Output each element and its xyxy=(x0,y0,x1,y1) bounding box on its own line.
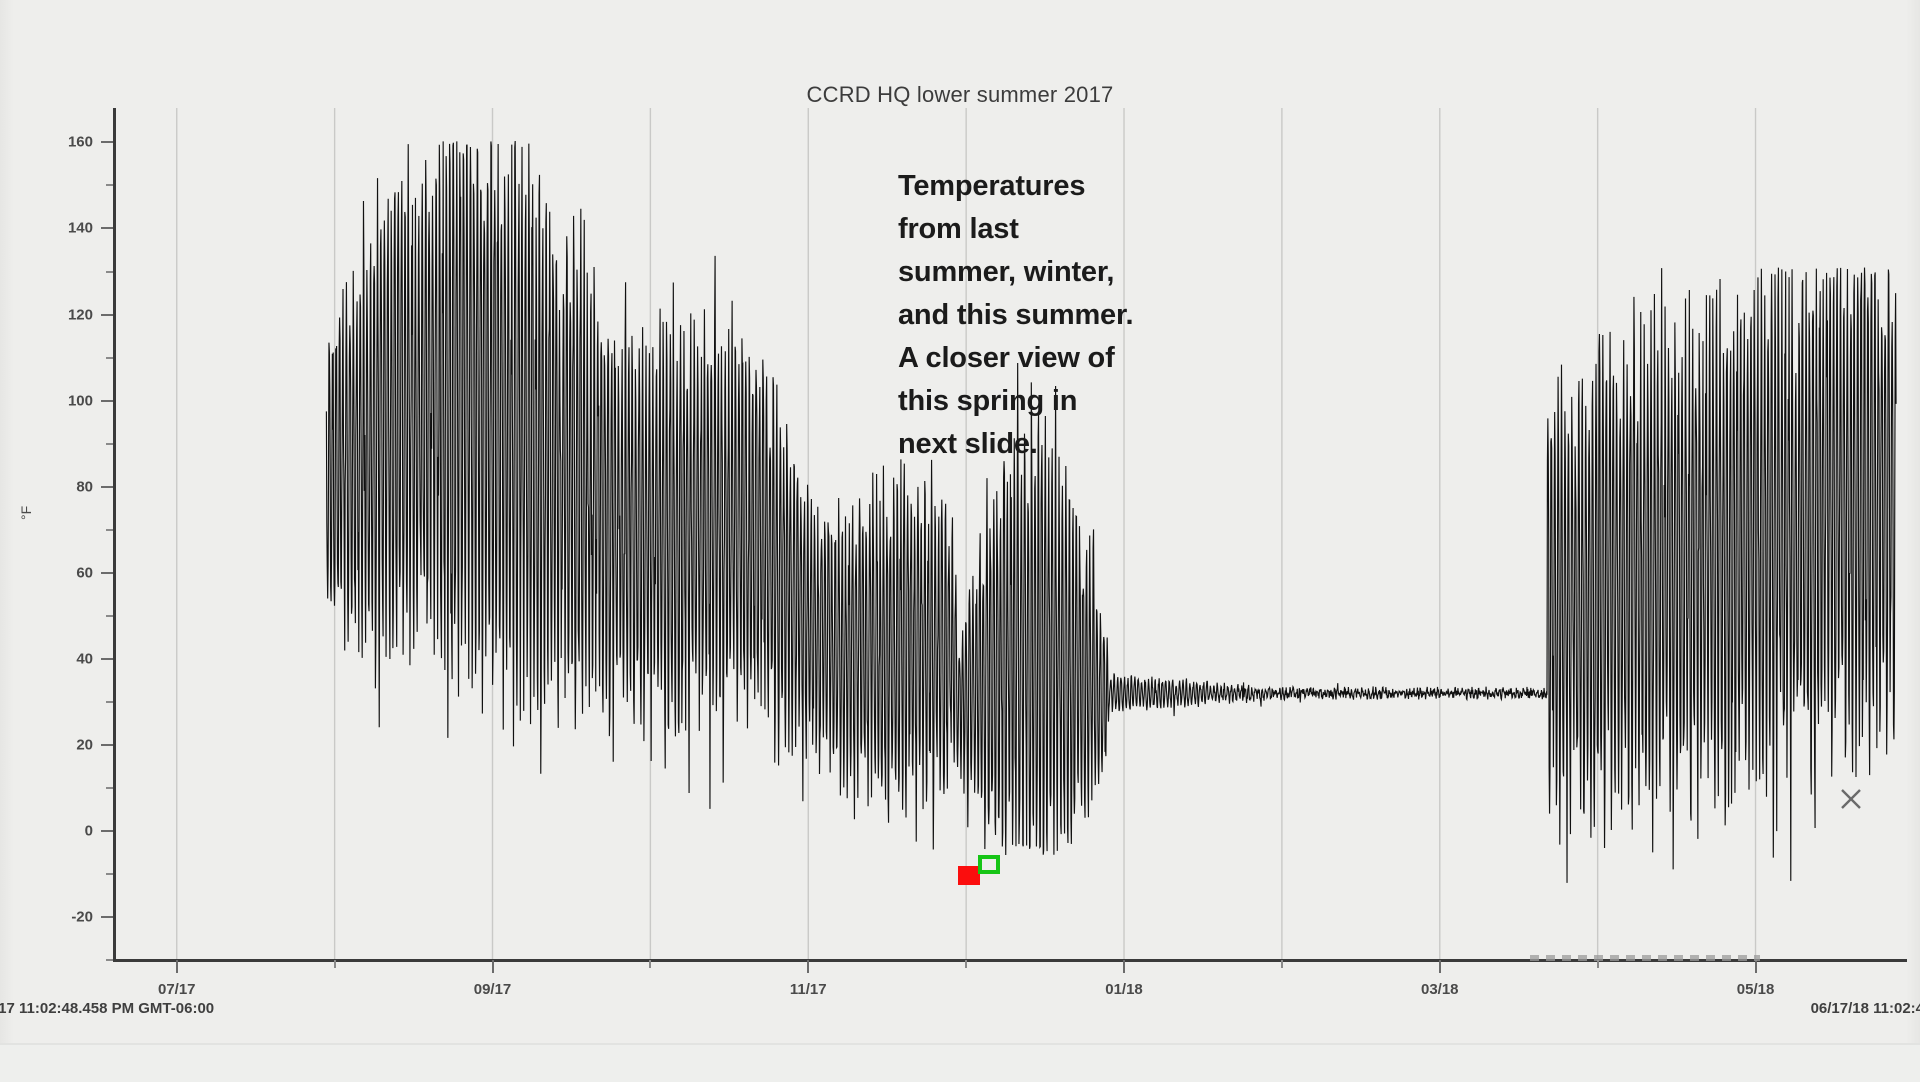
x-tick-label: 11/17 xyxy=(790,981,827,998)
x-tick-label: 05/18 xyxy=(1737,981,1775,998)
x-tick-label: 03/18 xyxy=(1421,981,1459,998)
y-axis-title: °F xyxy=(18,506,34,520)
bottom-strip xyxy=(0,1043,1920,1082)
close-icon[interactable] xyxy=(1837,785,1865,813)
timestamp-left: /17 11:02:48.458 PM GMT-06:00 xyxy=(0,1000,214,1017)
x-tick-major xyxy=(176,960,178,973)
y-tick-label: 60 xyxy=(76,564,93,581)
x-axis: 07/1709/1711/1701/1803/1805/18 xyxy=(0,959,1920,1019)
y-tick-label: 0 xyxy=(85,822,93,839)
y-tick-label: 100 xyxy=(68,392,93,409)
annotation-line: from last xyxy=(898,208,1258,251)
x-tick-major xyxy=(1439,960,1441,973)
y-axis: 160140120100806040200-20 xyxy=(0,108,115,960)
y-tick-label: 160 xyxy=(68,134,93,151)
right-edge-band xyxy=(1906,0,1920,1080)
y-tick-label: -20 xyxy=(71,908,93,925)
annotation-line: summer, winter, xyxy=(898,251,1258,294)
x-tick-minor xyxy=(649,960,651,968)
y-tick-label: 40 xyxy=(76,650,93,667)
red-square-marker[interactable] xyxy=(958,866,980,885)
y-tick-label: 120 xyxy=(68,306,93,323)
x-tick-major xyxy=(492,960,494,973)
annotation-line: this spring in xyxy=(898,380,1258,423)
chart-window: CCRD HQ lower summer 2017 16014012010080… xyxy=(0,0,1920,1080)
x-tick-label: 07/17 xyxy=(158,981,196,998)
y-tick-label: 80 xyxy=(76,478,93,495)
annotation-callout: Temperaturesfrom lastsummer, winter,and … xyxy=(898,165,1258,466)
x-tick-minor xyxy=(1281,960,1283,968)
chart-title: CCRD HQ lower summer 2017 xyxy=(0,82,1920,108)
x-tick-minor xyxy=(1597,960,1599,968)
y-tick-label: 140 xyxy=(68,220,93,237)
x-tick-minor xyxy=(965,960,967,968)
annotation-line: A closer view of xyxy=(898,337,1258,380)
timestamp-right: 06/17/18 11:02:4 xyxy=(1811,1000,1920,1017)
x-tick-minor xyxy=(334,960,336,968)
green-square-marker[interactable] xyxy=(978,855,1000,874)
legend-swatches[interactable] xyxy=(958,855,1014,889)
annotation-line: next slide. xyxy=(898,423,1258,466)
annotation-line: Temperatures xyxy=(898,165,1258,208)
faint-dashed-artifact xyxy=(1530,955,1760,961)
annotation-line: and this summer. xyxy=(898,294,1258,337)
x-tick-major xyxy=(1123,960,1125,973)
x-tick-label: 01/18 xyxy=(1105,981,1143,998)
x-tick-label: 09/17 xyxy=(474,981,512,998)
x-tick-major xyxy=(807,960,809,973)
y-tick-label: 20 xyxy=(76,736,93,753)
x-tick-major xyxy=(1755,960,1757,973)
